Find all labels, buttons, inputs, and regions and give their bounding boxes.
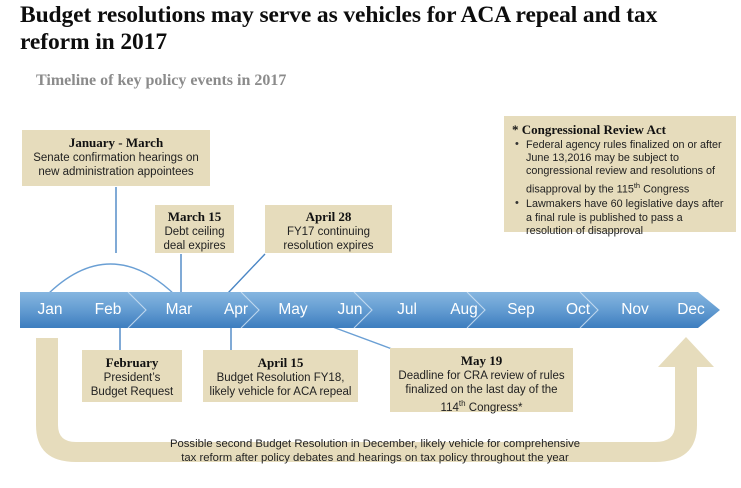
callout-april-15[interactable]: April 15 Budget Resolution FY18, likely … bbox=[203, 350, 358, 402]
cra-bullet-1-text: Federal agency rules finalized on or aft… bbox=[526, 139, 722, 195]
band-caption-line-1: Possible second Budget Resolution in Dec… bbox=[170, 438, 580, 450]
callout-heading: January - March bbox=[28, 135, 204, 151]
callout-april-28[interactable]: April 28 FY17 continuing resolution expi… bbox=[265, 205, 392, 253]
cra-bullet-2-text: Lawmakers have 60 legislative days after… bbox=[526, 198, 723, 236]
callout-heading: February bbox=[88, 355, 176, 371]
callout-line-3-sup: th bbox=[459, 399, 466, 408]
callout-line-1: Deadline for CRA review of rules bbox=[396, 369, 567, 383]
callout-line-3-post: Congress* bbox=[466, 402, 523, 414]
callout-line-1: Debt ceiling bbox=[161, 225, 228, 239]
callout-line-1: Senate confirmation hearings on bbox=[28, 151, 204, 165]
callout-line-2: resolution expires bbox=[271, 239, 386, 253]
callout-line-1: President’s bbox=[88, 371, 176, 385]
timeline-bar[interactable]: Jan Feb Mar Apr May Jun Jul Aug Sep Oct … bbox=[20, 292, 720, 328]
callout-heading: March 15 bbox=[161, 209, 228, 225]
callout-heading: May 19 bbox=[396, 353, 567, 369]
callout-may-19[interactable]: May 19 Deadline for CRA review of rules … bbox=[390, 348, 573, 412]
callout-line-3: 114th Congress* bbox=[396, 397, 567, 415]
cra-bullet-1-tail: Congress bbox=[640, 183, 689, 195]
cra-note-bullet-list: Federal agency rules finalized on or aft… bbox=[512, 139, 728, 238]
callout-february[interactable]: February President’s Budget Request bbox=[82, 350, 182, 402]
band-caption: Possible second Budget Resolution in Dec… bbox=[160, 437, 590, 465]
congressional-review-act-note[interactable]: * Congressional Review Act Federal agenc… bbox=[504, 116, 736, 232]
callout-heading: April 28 bbox=[271, 209, 386, 225]
callout-january-march[interactable]: January - March Senate confirmation hear… bbox=[22, 130, 210, 186]
cra-note-bullet-2: Lawmakers have 60 legislative days after… bbox=[512, 198, 728, 238]
band-caption-line-2: tax reform after policy debates and hear… bbox=[181, 452, 568, 464]
callout-line-2: deal expires bbox=[161, 239, 228, 253]
callout-line-2: finalized on the last day of the bbox=[396, 383, 567, 397]
callout-line-2: likely vehicle for ACA repeal bbox=[209, 385, 352, 399]
callout-line-2: new administration appointees bbox=[28, 165, 204, 179]
callout-heading: April 15 bbox=[209, 355, 352, 371]
callout-march-15[interactable]: March 15 Debt ceiling deal expires bbox=[155, 205, 234, 253]
callout-line-2: Budget Request bbox=[88, 385, 176, 399]
cra-note-heading: * Congressional Review Act bbox=[512, 122, 728, 138]
callout-line-1: Budget Resolution FY18, bbox=[209, 371, 352, 385]
callout-line-1: FY17 continuing bbox=[271, 225, 386, 239]
cra-note-bullet-1: Federal agency rules finalized on or aft… bbox=[512, 139, 728, 196]
callout-line-3-pre: 114 bbox=[441, 402, 459, 414]
